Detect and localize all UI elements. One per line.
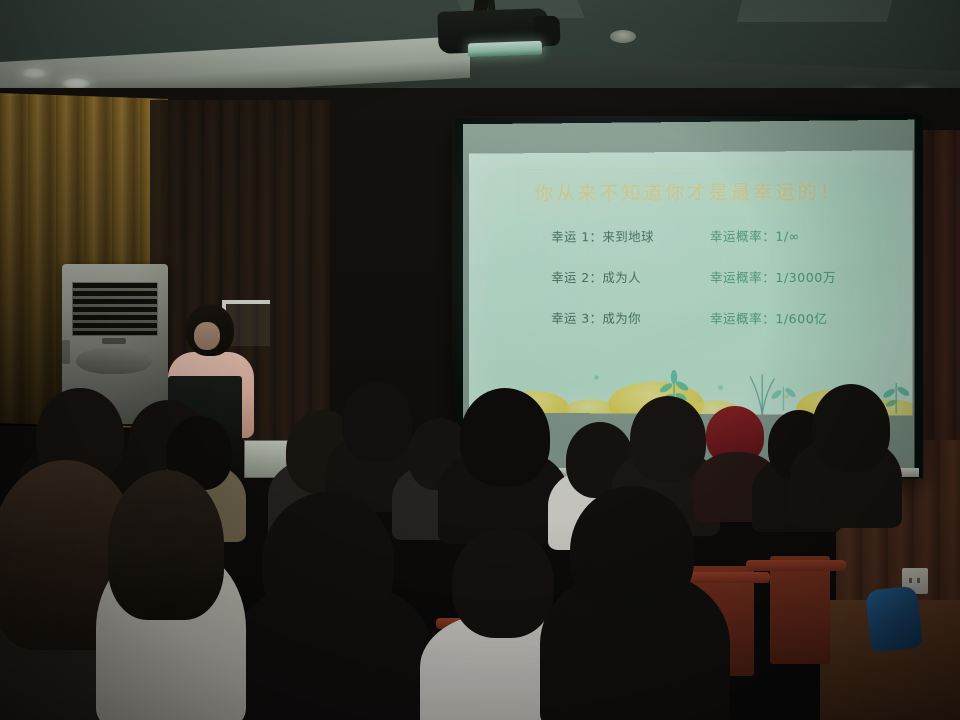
lucky-item-label: 幸运 2：成为人 xyxy=(551,267,710,286)
seat-armrest xyxy=(746,560,846,571)
lucky-item-label: 幸运 1：来到地球 xyxy=(551,226,710,245)
audience-head xyxy=(460,388,550,486)
slide-body-rows: 幸运 1：来到地球 幸运概率：1/∞ 幸运 2：成为人 幸运概率：1/3000万… xyxy=(469,225,912,350)
slide-row: 幸运 1：来到地球 幸运概率：1/∞ xyxy=(469,225,912,267)
slide-title-box: 你从来不知道你才是最幸运的！ xyxy=(518,167,860,215)
audience-head xyxy=(262,492,394,632)
lecture-hall-photo: 你从来不知道你才是最幸运的！ 幸运 1：来到地球 幸运概率：1/∞ 幸运 2：成… xyxy=(0,0,960,720)
slide-row: 幸运 3：成为你 幸运概率：1/600亿 xyxy=(469,308,912,350)
audience-head xyxy=(108,470,224,620)
smoke-detector-icon xyxy=(610,30,636,43)
lucky-item-probability: 幸运概率：1/∞ xyxy=(710,226,800,245)
audience-head xyxy=(342,382,412,462)
audience-head xyxy=(630,396,706,482)
slide-title: 你从来不知道你才是最幸运的！ xyxy=(535,177,843,206)
downlight-icon xyxy=(20,68,48,79)
audience xyxy=(0,360,960,720)
ceiling-panel xyxy=(737,0,893,22)
slide-row: 幸运 2：成为人 幸运概率：1/3000万 xyxy=(469,267,912,309)
audience-head xyxy=(812,384,890,472)
backpack xyxy=(865,585,923,652)
presenter-face xyxy=(194,322,220,350)
projector-lens xyxy=(468,41,542,58)
lucky-item-probability: 幸运概率：1/600亿 xyxy=(710,308,827,327)
audience-head xyxy=(570,486,694,616)
lucky-item-probability: 幸运概率：1/3000万 xyxy=(710,267,836,286)
auditorium-seat[interactable] xyxy=(770,556,830,664)
lucky-item-label: 幸运 3：成为你 xyxy=(551,308,710,327)
audience-head xyxy=(452,528,554,638)
